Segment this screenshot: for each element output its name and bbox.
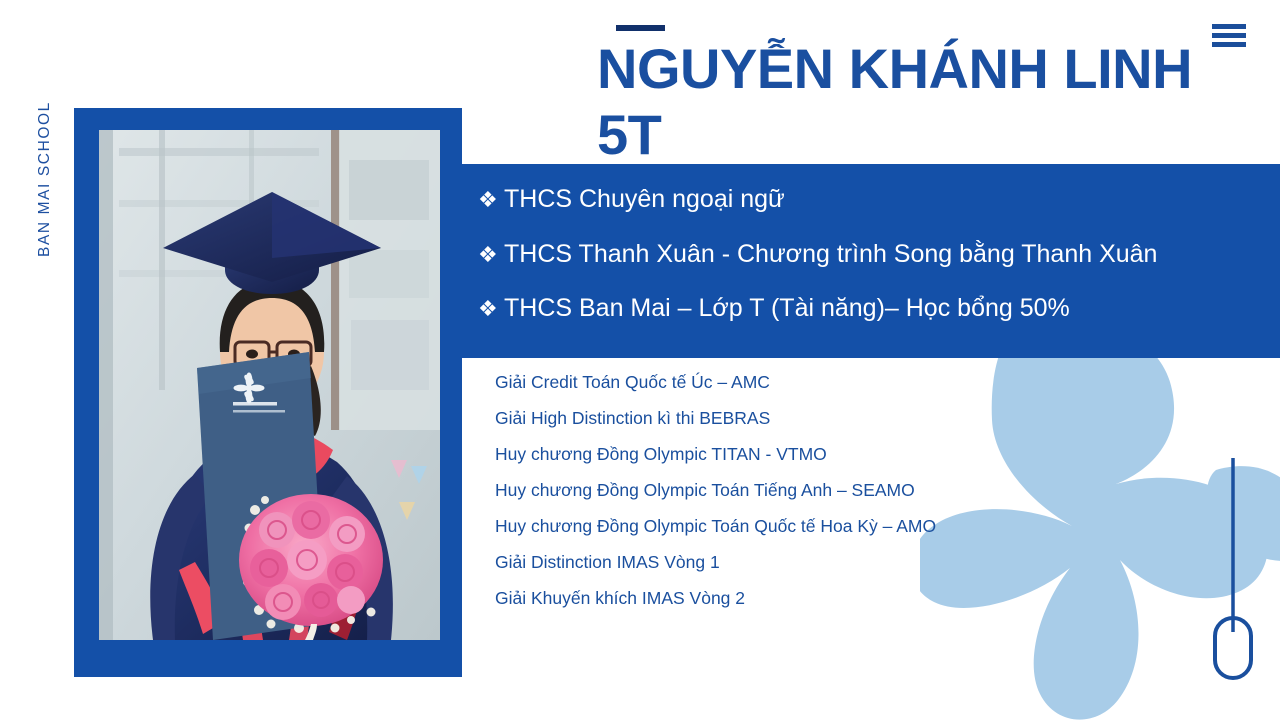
- award-item: Giải Khuyến khích IMAS Vòng 2: [495, 590, 1115, 608]
- pin-marker: [1208, 456, 1258, 686]
- award-item: Huy chương Đồng Olympic Toán Tiếng Anh –…: [495, 482, 1115, 500]
- hamburger-bar-1: [1212, 24, 1246, 29]
- banner-item-label: THCS Thanh Xuân - Chương trình Song bằng…: [504, 241, 1157, 269]
- award-item: Giải High Distinction kì thi BEBRAS: [495, 410, 1115, 428]
- slide-root: BAN MAI SCHOOL NGUYỄN KHÁNH LINH 5T: [0, 0, 1280, 720]
- award-item: Giải Credit Toán Quốc tế Úc – AMC: [495, 374, 1115, 392]
- title-accent-dash: [616, 25, 665, 31]
- banner-item: ❖ THCS Chuyên ngoại ngữ: [478, 186, 1280, 214]
- student-photo-frame: [74, 108, 462, 677]
- banner-item-label: THCS Ban Mai – Lớp T (Tài năng)– Học bổn…: [504, 295, 1070, 323]
- brand-name: BAN MAI SCHOOL: [36, 0, 54, 257]
- award-item: Giải Distinction IMAS Vòng 1: [495, 554, 1115, 572]
- award-item: Huy chương Đồng Olympic TITAN - VTMO: [495, 446, 1115, 464]
- hamburger-bar-3: [1212, 42, 1246, 47]
- award-item: Huy chương Đồng Olympic Toán Quốc tế Hoa…: [495, 518, 1115, 536]
- awards-list: Giải Credit Toán Quốc tế Úc – AMC Giải H…: [495, 374, 1115, 626]
- banner-item-label: THCS Chuyên ngoại ngữ: [504, 186, 785, 214]
- banner-item: ❖ THCS Ban Mai – Lớp T (Tài năng)– Học b…: [478, 295, 1280, 323]
- diamond-bullet-icon: ❖: [478, 295, 504, 323]
- student-photo: [99, 130, 440, 640]
- hamburger-bar-2: [1212, 33, 1246, 38]
- diamond-bullet-icon: ❖: [478, 241, 504, 269]
- school-options-banner: ❖ THCS Chuyên ngoại ngữ ❖ THCS Thanh Xuâ…: [462, 164, 1280, 358]
- hamburger-menu-icon[interactable]: [1212, 24, 1246, 47]
- diamond-bullet-icon: ❖: [478, 186, 504, 214]
- banner-item: ❖ THCS Thanh Xuân - Chương trình Song bằ…: [478, 241, 1280, 269]
- page-title: NGUYỄN KHÁNH LINH 5T: [597, 36, 1197, 168]
- brand-rail: BAN MAI SCHOOL: [0, 0, 74, 300]
